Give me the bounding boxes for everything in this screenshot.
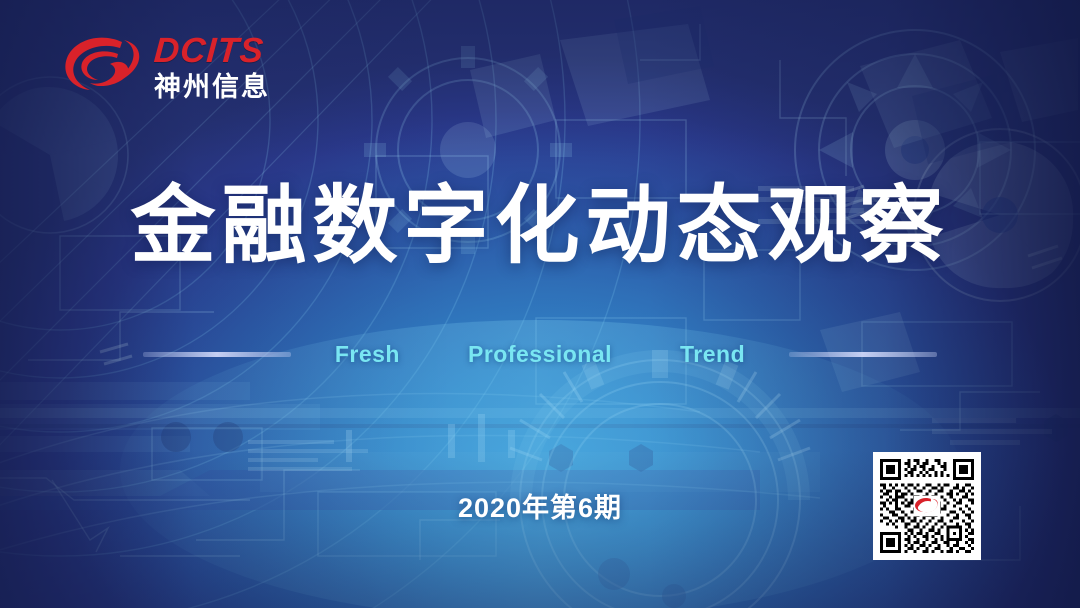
tagline-word-trend: Trend xyxy=(680,341,745,368)
tagline-rule-left xyxy=(143,352,291,357)
poster-canvas: DCITS 神州信息 金融数字化动态观察 Fresh Professional … xyxy=(0,0,1080,608)
page-title: 金融数字化动态观察 xyxy=(0,182,1080,271)
tagline-rule-right xyxy=(789,352,937,357)
tagline-word-professional: Professional xyxy=(468,341,612,368)
qr-code[interactable] xyxy=(873,452,981,560)
brand-name-en: DCITS xyxy=(153,33,271,68)
brand-name-cn: 神州信息 xyxy=(154,74,270,101)
tagline-row: Fresh Professional Trend xyxy=(0,340,1080,368)
tagline-words: Fresh Professional Trend xyxy=(335,341,745,368)
brand-logo[interactable]: DCITS 神州信息 xyxy=(62,30,270,104)
qr-center-logo xyxy=(914,496,940,516)
dcits-swirl-icon xyxy=(62,30,144,104)
brand-logo-text: DCITS 神州信息 xyxy=(154,33,270,101)
tagline-word-fresh: Fresh xyxy=(335,341,400,368)
